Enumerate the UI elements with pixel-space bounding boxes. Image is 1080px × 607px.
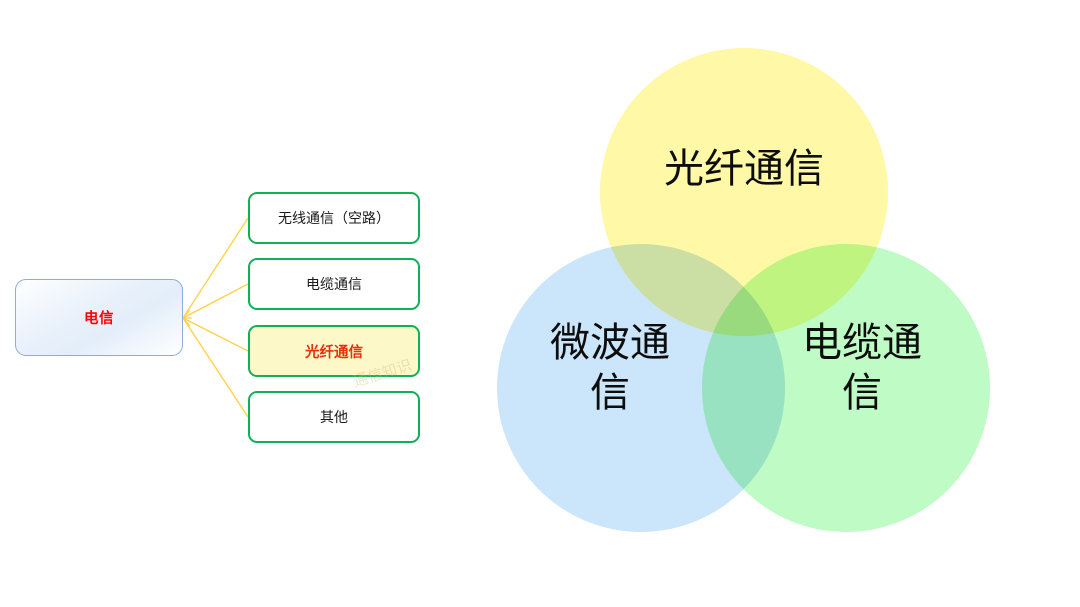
root-node-telecom[interactable]: 电信 xyxy=(15,279,183,356)
leaf-node-other[interactable]: 其他 xyxy=(248,391,420,443)
venn-label-cable: 电缆通 信 xyxy=(762,318,962,418)
leaf-node-cable[interactable]: 电缆通信 xyxy=(248,258,420,310)
venn-label-optical-fiber: 光纤通信 xyxy=(618,144,870,194)
connector-line-2 xyxy=(183,318,248,351)
root-node-label: 电信 xyxy=(84,307,114,328)
venn-label-microwave: 微波通 信 xyxy=(510,318,710,418)
leaf-node-label: 电缆通信 xyxy=(306,274,362,294)
leaf-node-label: 其他 xyxy=(320,407,348,427)
leaf-node-label: 无线通信（空路） xyxy=(278,208,390,228)
diagram-canvas: 电信 无线通信（空路） 电缆通信 光纤通信 通信知识 其他 光纤通信 微波通 信… xyxy=(0,0,1080,607)
leaf-node-wireless[interactable]: 无线通信（空路） xyxy=(248,192,420,244)
leaf-node-label: 光纤通信 xyxy=(305,341,363,362)
connector-line-3 xyxy=(183,318,248,417)
leaf-node-optical-fiber[interactable]: 光纤通信 通信知识 xyxy=(248,325,420,377)
connector-line-1 xyxy=(183,284,248,318)
connector-line-0 xyxy=(183,218,248,318)
venn-diagram: 光纤通信 微波通 信 电缆通 信 xyxy=(470,30,1030,550)
